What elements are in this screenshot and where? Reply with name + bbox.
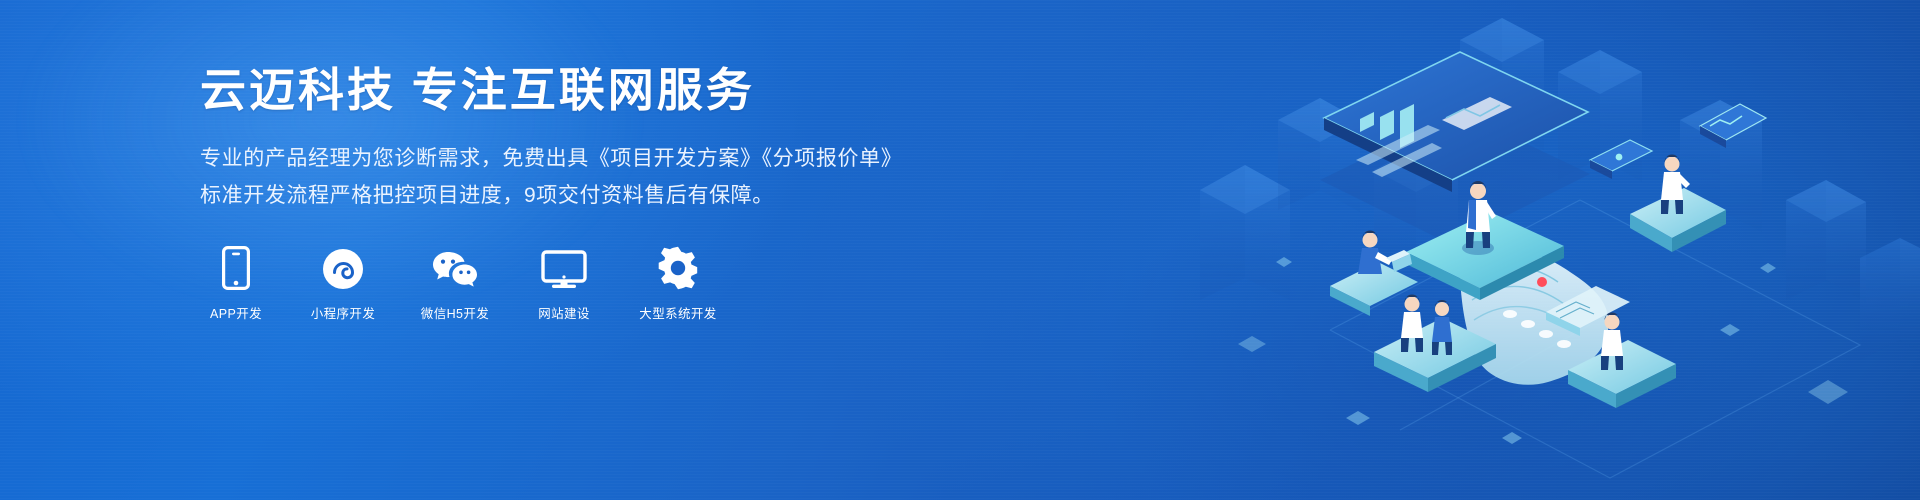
service-item-wechat-h5[interactable]: 微信H5开发	[414, 244, 496, 322]
hero-subtitle: 专业的产品经理为您诊断需求，免费出具《项目开发方案》《分项报价单》 标准开发流程…	[200, 141, 900, 214]
service-label: APP开发	[210, 303, 262, 322]
service-label: 微信H5开发	[421, 303, 489, 322]
hero-banner: 云迈科技 专注互联网服务 专业的产品经理为您诊断需求，免费出具《项目开发方案》《…	[0, 0, 1920, 500]
subtitle-line-2: 标准开发流程严格把控项目进度，9项交付资料售后有保障。	[200, 178, 900, 215]
service-item-website[interactable]: 网站建设	[528, 244, 600, 322]
service-item-large-system[interactable]: 大型系统开发	[632, 244, 724, 322]
gear-icon	[656, 244, 700, 290]
service-label: 大型系统开发	[639, 303, 716, 322]
wechat-icon	[431, 244, 479, 290]
monitor-icon	[541, 244, 587, 290]
hero-copy: 云迈科技 专注互联网服务 专业的产品经理为您诊断需求，免费出具《项目开发方案》《…	[200, 62, 900, 322]
mini-program-icon	[322, 244, 364, 290]
service-item-app[interactable]: APP开发	[200, 244, 272, 322]
isometric-tech-city-illustration	[1160, 0, 1920, 500]
service-list: APP开发 小程序开发	[200, 244, 900, 322]
page-title: 云迈科技 专注互联网服务	[200, 62, 900, 119]
service-label: 小程序开发	[311, 303, 376, 322]
mobile-phone-icon	[222, 244, 250, 290]
subtitle-line-1: 专业的产品经理为您诊断需求，免费出具《项目开发方案》《分项报价单》	[200, 141, 900, 178]
service-item-mini-program[interactable]: 小程序开发	[304, 244, 382, 322]
service-label: 网站建设	[538, 303, 590, 322]
